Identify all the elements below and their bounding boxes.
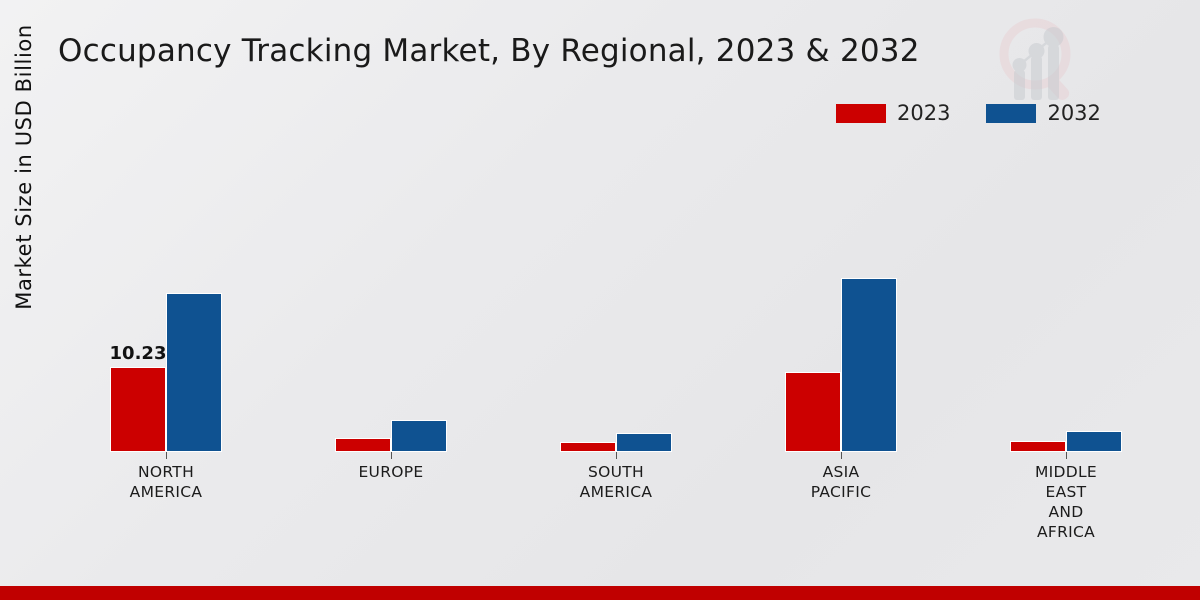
legend-label-2032: 2032: [1047, 101, 1100, 125]
bar-2032-middle-east-and-africa[interactable]: [1066, 431, 1122, 452]
bar-group-europe: EUROPE: [335, 140, 485, 452]
x-tick-europe: [391, 452, 392, 459]
chart-title: Occupancy Tracking Market, By Regional, …: [58, 33, 920, 69]
bar-group-south-america: SOUTH AMERICA: [560, 140, 710, 452]
chart-legend: 2023 2032: [836, 101, 1101, 125]
bar-2023-asia-pacific[interactable]: [785, 372, 841, 452]
bar-2023-europe[interactable]: [335, 438, 391, 452]
chart-figure: Occupancy Tracking Market, By Regional, …: [0, 0, 1200, 600]
bar-2032-asia-pacific[interactable]: [841, 278, 897, 452]
x-label-line: AFRICA: [966, 522, 1166, 542]
bar-2032-europe[interactable]: [391, 420, 447, 452]
x-label-asia-pacific: ASIA PACIFIC: [741, 462, 941, 502]
x-label-line: EUROPE: [291, 462, 491, 482]
legend-swatch-2023: [836, 104, 886, 123]
bar-group-asia-pacific: ASIA PACIFIC: [785, 140, 935, 452]
x-tick-asia-pacific: [841, 452, 842, 459]
bottom-accent-strip: [0, 586, 1200, 600]
x-label-line: EAST: [966, 482, 1166, 502]
x-label-line: NORTH: [66, 462, 266, 482]
bar-group-middle-east-and-africa: MIDDLE EAST AND AFRICA: [1010, 140, 1160, 452]
x-label-line: AND: [966, 502, 1166, 522]
x-label-line: MIDDLE: [966, 462, 1166, 482]
x-tick-middle-east-and-africa: [1066, 452, 1067, 459]
watermark-logo-icon: [985, 8, 1090, 108]
x-label-line: ASIA: [741, 462, 941, 482]
x-label-europe: EUROPE: [291, 462, 491, 482]
bar-value-2023-north-america: 10.23: [110, 343, 167, 364]
legend-swatch-2032: [986, 104, 1036, 123]
x-tick-south-america: [616, 452, 617, 459]
legend-label-2023: 2023: [897, 101, 950, 125]
bar-2032-south-america[interactable]: [616, 433, 672, 452]
plot-area: 10.23 NORTH AMERICA EUROPE: [58, 140, 1168, 452]
x-label-south-america: SOUTH AMERICA: [516, 462, 716, 502]
x-label-middle-east-and-africa: MIDDLE EAST AND AFRICA: [966, 462, 1166, 542]
x-label-line: SOUTH: [516, 462, 716, 482]
legend-item-2032[interactable]: 2032: [986, 101, 1100, 125]
legend-item-2023[interactable]: 2023: [836, 101, 950, 125]
y-axis-label: Market Size in USD Billion: [12, 0, 36, 337]
bar-2023-south-america[interactable]: [560, 442, 616, 452]
x-label-line: AMERICA: [516, 482, 716, 502]
x-label-line: AMERICA: [66, 482, 266, 502]
x-label-north-america: NORTH AMERICA: [66, 462, 266, 502]
x-tick-north-america: [166, 452, 167, 459]
bar-2032-north-america[interactable]: [166, 293, 222, 452]
x-label-line: PACIFIC: [741, 482, 941, 502]
bar-2023-north-america[interactable]: 10.23: [110, 367, 166, 452]
bar-group-north-america: 10.23 NORTH AMERICA: [110, 140, 260, 452]
bar-2023-middle-east-and-africa[interactable]: [1010, 441, 1066, 452]
